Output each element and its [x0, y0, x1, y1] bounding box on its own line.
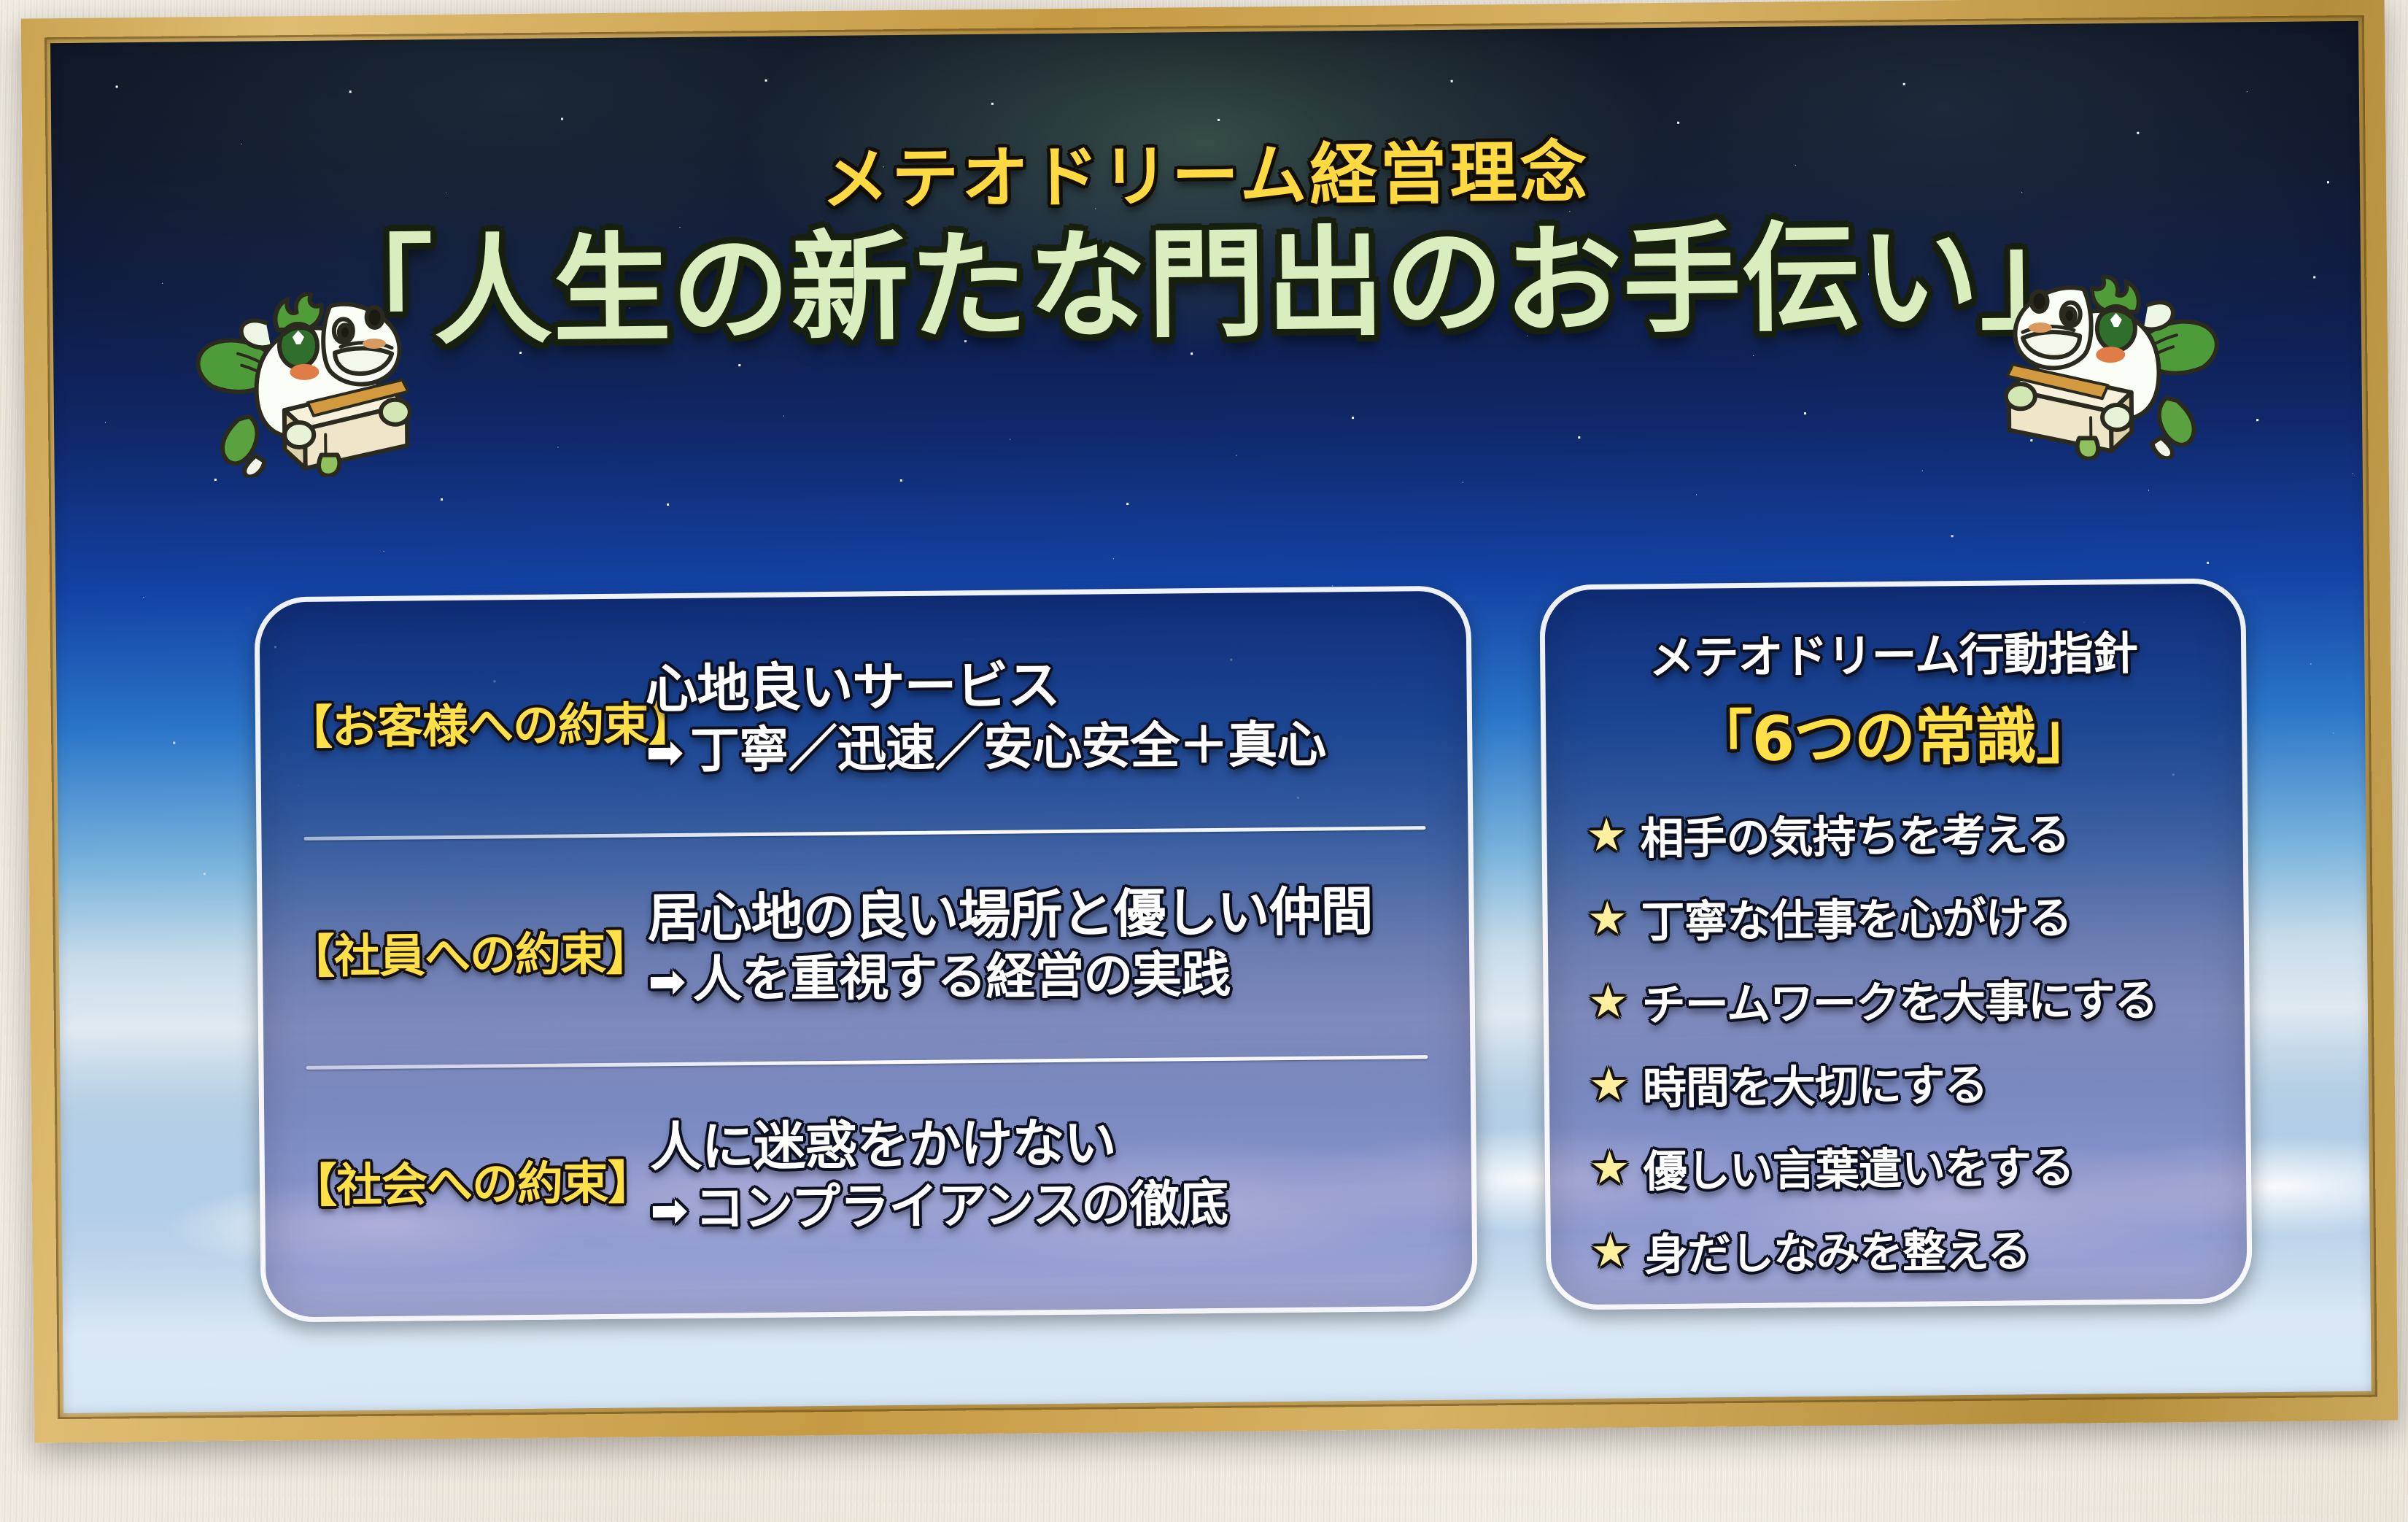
- promise-main-text: 人に迷惑をかけない: [649, 1110, 1447, 1176]
- promise-label: 【社会への約束】: [291, 1146, 651, 1216]
- promise-sub-line: ➡コンプライアンスの徹底: [650, 1173, 1447, 1240]
- list-item-label: 時間を大切にする: [1642, 1049, 1987, 1116]
- list-item-label: 優しい言葉遣いをする: [1644, 1132, 2075, 1200]
- promise-label: 【社員への約束】: [289, 916, 649, 986]
- section-divider: [303, 826, 1425, 841]
- star-icon: ★: [1589, 1062, 1644, 1108]
- promise-body: 心地良いサービス ➡丁寧／迅速／安心安全＋真心: [645, 652, 1443, 781]
- conduct-header: メテオドリーム行動指針 「6つの常識」: [1545, 615, 2242, 780]
- list-item-label: 身だしなみを整える: [1644, 1216, 2031, 1283]
- conduct-panel: メテオドリーム行動指針 「6つの常識」 ★ 相手の気持ちを考える ★ 丁寧な仕事…: [1539, 578, 2252, 1310]
- list-item: ★ 身だしなみを整える: [1590, 1204, 2225, 1293]
- promise-row: 【社員への約束】 居心地の良い場所と優しい仲間 ➡人を重視する経営の実践: [262, 838, 1471, 1058]
- conduct-title: メテオドリーム行動指針: [1545, 615, 2242, 687]
- list-item: ★ 丁寧な仕事を心がける: [1587, 871, 2222, 960]
- promise-body: 居心地の良い場所と優しい仲間 ➡人を重視する経営の実践: [647, 881, 1445, 1010]
- poster-artwork: メテオドリーム経営理念 「人生の新たな門出のお手伝い」: [50, 21, 2372, 1413]
- list-item-label: 相手の気持ちを考える: [1640, 799, 2070, 867]
- picture-frame: メテオドリーム経営理念 「人生の新たな門出のお手伝い」: [21, 0, 2399, 1443]
- list-item: ★ 優しい言葉遣いをする: [1589, 1121, 2224, 1210]
- section-divider: [306, 1055, 1428, 1070]
- flying-cow-mascot-icon: [168, 235, 425, 478]
- conduct-subtitle: 「6つの常識」: [1546, 685, 2242, 780]
- promise-label: 【お客様への約束】: [287, 687, 646, 757]
- promise-sub-text: 人を重視する経営の実践: [692, 946, 1231, 1009]
- promise-main-text: 心地良いサービス: [645, 652, 1442, 719]
- promise-sub-line: ➡丁寧／迅速／安心安全＋真心: [646, 715, 1443, 781]
- list-item-label: 丁寧な仕事を心がける: [1641, 882, 2072, 950]
- star-icon: ★: [1590, 1228, 1645, 1274]
- list-item: ★ チームワークを大事にする: [1587, 954, 2223, 1043]
- list-item: ★ 相手の気持ちを考える: [1586, 788, 2221, 877]
- promise-sub-line: ➡人を重視する経営の実践: [648, 944, 1445, 1011]
- starfield-layer-1: [50, 43, 51, 44]
- flying-cow-mascot-icon: [1989, 217, 2247, 460]
- arrow-right-icon: ➡: [648, 959, 686, 1004]
- star-icon: ★: [1586, 812, 1641, 858]
- arrow-right-icon: ➡: [646, 730, 684, 775]
- conduct-list: ★ 相手の気持ちを考える ★ 丁寧な仕事を心がける ★ チームワークを大事にする…: [1586, 788, 2226, 1293]
- star-icon: ★: [1587, 978, 1642, 1024]
- star-icon: ★: [1587, 895, 1641, 941]
- star-icon: ★: [1590, 1145, 1644, 1191]
- promise-row: 【社会への約束】 人に迷惑をかけない ➡コンプライアンスの徹底: [264, 1067, 1473, 1287]
- promise-sub-text: コンプライアンスの徹底: [694, 1175, 1228, 1238]
- arrow-right-icon: ➡: [650, 1188, 688, 1233]
- promise-sub-text: 丁寧／迅速／安心安全＋真心: [690, 716, 1326, 780]
- promise-row: 【お客様への約束】 心地良いサービス ➡丁寧／迅速／安心安全＋真心: [260, 609, 1468, 829]
- promises-panel: 【お客様への約束】 心地良いサービス ➡丁寧／迅速／安心安全＋真心 【社員への約…: [254, 586, 1477, 1323]
- starfield-layer-2: [50, 43, 51, 44]
- promise-body: 人に迷惑をかけない ➡コンプライアンスの徹底: [649, 1110, 1447, 1239]
- promise-main-text: 居心地の良い場所と優しい仲間: [647, 881, 1444, 947]
- list-item-label: チームワークを大事にする: [1641, 965, 2158, 1033]
- list-item: ★ 時間を大切にする: [1588, 1038, 2223, 1127]
